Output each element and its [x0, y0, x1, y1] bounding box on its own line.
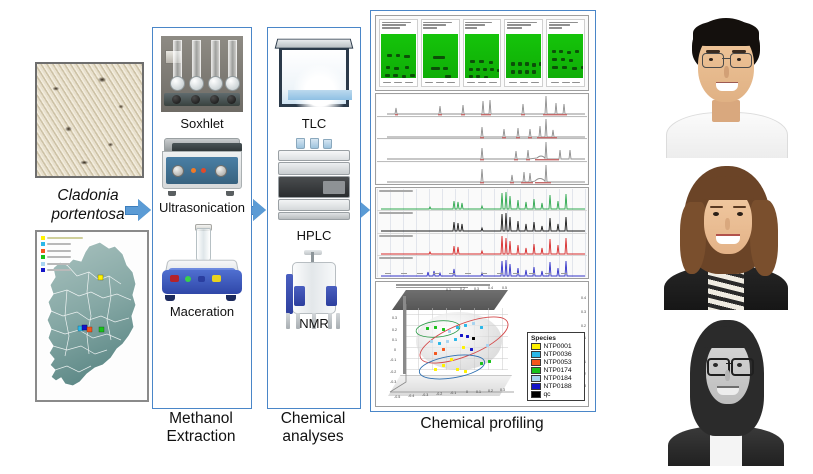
tlc-solvent-layer — [288, 90, 352, 100]
hair-right — [750, 200, 778, 276]
nmr-leg — [286, 313, 290, 329]
legend-swatch — [41, 236, 45, 240]
eye — [713, 212, 719, 216]
legend-text-placeholder — [47, 263, 70, 265]
hair-fringe — [700, 176, 756, 200]
solvent-bottle — [323, 139, 332, 149]
soxhlet-flask — [208, 76, 223, 91]
stirrer-foot — [226, 295, 236, 301]
plate-surface — [506, 34, 541, 78]
nmr-y-axis-labels — [381, 97, 387, 113]
stirrer-power-button — [170, 275, 179, 282]
tlc-plate — [504, 19, 543, 87]
soxhlet-flask — [170, 76, 185, 91]
tlc-plate — [546, 19, 585, 87]
eye — [737, 212, 743, 216]
map-legend-item — [41, 261, 93, 267]
bath-indicator — [201, 168, 206, 173]
legend-swatch-ntp0053 — [531, 359, 541, 366]
tlc-plate-inside — [294, 65, 346, 109]
hplc-degasser — [278, 150, 350, 161]
data-point — [450, 358, 453, 361]
plate-header-text — [422, 20, 459, 33]
plate-header-text — [380, 20, 417, 33]
maceration-label: Maceration — [170, 304, 234, 319]
magnetic-stirrer-icon — [160, 228, 244, 302]
nmr-trace — [377, 163, 587, 184]
legend-swatch — [41, 268, 45, 272]
plate-lane-labels — [380, 79, 417, 86]
tlc-plate — [379, 19, 418, 87]
chemical-analyses-panel: TLC HPLC NMR — [267, 27, 361, 409]
legend-swatch — [41, 249, 45, 253]
arrow-specimen-to-extraction — [125, 199, 151, 221]
hair-front — [693, 20, 759, 46]
pca-3d-scatter-plot: 0.4 0.3 0.2 0.1 0 -0.1 -0.2 -0.3 0.3 0.2… — [375, 281, 589, 407]
plate-surface — [548, 34, 583, 78]
legend-text-placeholder — [47, 269, 71, 271]
ultrasonication-label: Ultrasonication — [159, 200, 245, 215]
chemical-analyses-caption: Chemical analyses — [266, 410, 360, 446]
data-point — [470, 348, 473, 351]
hair-fringe — [702, 326, 754, 348]
legend-swatch-ntp0188 — [531, 383, 541, 390]
legend-swatch-ntp0174 — [531, 367, 541, 374]
data-point — [434, 368, 437, 371]
eyebrow — [733, 206, 746, 208]
eyebrow — [710, 206, 723, 208]
bath-dial — [172, 165, 184, 177]
data-point — [486, 344, 489, 347]
neck — [712, 100, 740, 122]
caption-line-2: Extraction — [150, 428, 252, 446]
nmr-trace — [377, 140, 587, 162]
hplc-autosampler — [278, 176, 350, 198]
hplc-pump — [278, 162, 350, 175]
eyeglasses-bridge — [722, 58, 730, 59]
legend-label: qc — [544, 391, 551, 398]
caption-line-1: Chemical — [266, 410, 360, 428]
legend-swatch-qc — [531, 391, 541, 398]
data-point — [456, 326, 459, 329]
data-point — [434, 326, 437, 329]
chemical-profiling-panel: 0.4 0.3 0.2 0.1 0 -0.1 -0.2 -0.3 0.3 0.2… — [370, 10, 596, 412]
legend-title: Species — [531, 335, 581, 342]
tlc-plate — [421, 19, 460, 87]
ireland-sampling-site-map — [35, 230, 149, 402]
plate-lane-labels — [464, 79, 501, 86]
pca-legend: Species NTP0001 NTP0036 NTP0053 NTP0174 … — [527, 332, 585, 402]
bath-foot — [168, 191, 176, 196]
plate-header-text — [505, 20, 542, 33]
caption-line-1: Methanol — [150, 410, 252, 428]
nmr-leg — [336, 313, 340, 329]
soxhlet-knob — [227, 95, 236, 104]
legend-label: NTP0188 — [544, 383, 572, 390]
chromatogram-trace — [377, 234, 587, 256]
solvent-bottle — [310, 138, 319, 149]
nmr-side-column — [286, 274, 293, 314]
hair-left — [680, 202, 706, 274]
tlc-chamber-icon — [276, 38, 352, 110]
legend-swatch — [41, 255, 45, 259]
stirrer-button — [198, 276, 205, 282]
tlc-plates-image — [375, 15, 589, 91]
legend-item: qc — [531, 390, 581, 398]
eye — [737, 58, 741, 61]
chromatogram-trace — [377, 256, 587, 277]
data-point — [426, 327, 429, 330]
bath-foot — [226, 191, 234, 196]
data-point — [472, 337, 475, 340]
map-legend-item — [41, 241, 93, 247]
arrow-head — [138, 199, 151, 221]
map-legend-item — [41, 248, 93, 254]
tlc-plate — [463, 19, 502, 87]
methanol-extraction-caption: Methanol Extraction — [150, 410, 252, 446]
legend-swatch-ntp0184 — [531, 375, 541, 382]
stirrer-foot — [165, 295, 175, 301]
map-legend-item — [41, 267, 93, 273]
nmr-spectra-image — [375, 93, 589, 185]
mouth — [717, 386, 739, 395]
nmr-coil — [294, 286, 305, 306]
sample-vial — [196, 228, 211, 262]
legend-item: NTP0053 — [531, 358, 581, 366]
data-point — [438, 342, 441, 345]
legend-label: NTP0001 — [544, 343, 572, 350]
nmr-y-axis-labels — [381, 165, 387, 181]
chemical-profiling-caption: Chemical profiling — [370, 415, 594, 433]
hplc-column-oven — [278, 199, 350, 211]
plate-lane-labels — [422, 79, 459, 86]
legend-label: NTP0053 — [544, 359, 572, 366]
data-point — [480, 326, 483, 329]
nose — [725, 218, 730, 230]
legend-text-placeholder — [47, 250, 71, 252]
data-point — [462, 346, 465, 349]
hplc-detector — [278, 212, 350, 220]
data-point — [456, 368, 459, 371]
bath-timer-dial — [215, 165, 227, 177]
soxhlet-flask — [225, 76, 240, 91]
hplc-display — [323, 181, 345, 194]
soxhlet-flask — [189, 76, 204, 91]
methanol-extraction-panel: Soxhlet Ultrasonication Macera — [152, 27, 252, 409]
legend-text-placeholder — [47, 237, 83, 239]
soxhlet-apparatus-icon — [161, 36, 243, 112]
plate-surface — [423, 34, 458, 78]
plate-lane-labels — [547, 79, 584, 86]
data-point — [464, 370, 467, 373]
legend-label: NTP0184 — [544, 375, 572, 382]
legend-text-placeholder — [47, 243, 71, 245]
graphical-abstract: Cladonia portentosa — [0, 0, 813, 474]
mouth — [716, 82, 738, 91]
nmr-trace — [377, 118, 587, 140]
legend-item: NTP0174 — [531, 366, 581, 374]
data-point — [464, 324, 467, 327]
tlc-lid — [275, 39, 354, 49]
portrait-researcher-3 — [662, 314, 790, 466]
arrow-head — [253, 199, 266, 221]
stirrer-button — [212, 275, 221, 282]
plate-surface — [381, 34, 416, 78]
eyeglasses-lens — [702, 53, 724, 68]
data-point — [480, 362, 483, 365]
legend-label: NTP0174 — [544, 367, 572, 374]
eyeglasses-lens — [730, 53, 752, 68]
nmr-trace — [377, 95, 587, 117]
stirrer-led — [185, 276, 191, 282]
legend-text-placeholder — [47, 256, 71, 258]
map-legend — [41, 235, 93, 275]
bath-indicator — [191, 168, 196, 173]
data-point — [472, 322, 475, 325]
data-point — [430, 340, 433, 343]
nose — [724, 66, 729, 78]
eyeglasses-lens — [731, 358, 754, 376]
data-point — [442, 364, 445, 367]
ultrasonic-bath-icon — [160, 136, 244, 196]
data-point — [442, 348, 445, 351]
legend-item: NTP0036 — [531, 350, 581, 358]
plate-header-text — [464, 20, 501, 33]
eye — [709, 58, 713, 61]
nose — [725, 370, 730, 381]
soxhlet-knob — [191, 95, 200, 104]
map-legend-item — [41, 235, 93, 241]
legend-item: NTP0188 — [531, 382, 581, 390]
data-point — [466, 335, 469, 338]
plate-lane-labels — [505, 79, 542, 86]
lichen-thallus-photo — [35, 62, 144, 178]
legend-swatch-ntp0001 — [531, 343, 541, 350]
legend-swatch-ntp0036 — [531, 351, 541, 358]
nmr-y-axis-labels — [381, 142, 387, 158]
map-legend-item — [41, 254, 93, 260]
eyeglasses-bridge — [726, 363, 732, 364]
legend-swatch — [41, 262, 45, 266]
data-point — [448, 330, 451, 333]
chromatogram-trace — [377, 211, 587, 233]
portrait-researcher-2 — [662, 162, 790, 310]
data-point — [460, 334, 463, 337]
caption-line-2: analyses — [266, 428, 360, 446]
legend-item: NTP0001 — [531, 342, 581, 350]
hplc-label: HPLC — [297, 228, 332, 243]
legend-item: NTP0184 — [531, 374, 581, 382]
mouth — [716, 234, 740, 244]
data-point — [454, 338, 457, 341]
soxhlet-knob — [172, 95, 181, 104]
eye — [737, 363, 742, 367]
soxhlet-knob — [210, 95, 219, 104]
solvent-bottle — [296, 138, 305, 149]
stirrer-body — [162, 270, 242, 294]
plate-header-text — [547, 20, 584, 33]
plate-surface — [465, 34, 500, 78]
nmr-y-axis-labels — [381, 120, 387, 136]
hplc-chromatograms-image — [375, 187, 589, 279]
tlc-tank — [279, 47, 349, 107]
tlc-label: TLC — [302, 116, 327, 131]
data-point — [446, 340, 449, 343]
soxhlet-label: Soxhlet — [180, 116, 223, 131]
nmr-label: NMR — [299, 316, 329, 331]
eye — [713, 363, 718, 367]
legend-swatch — [41, 242, 45, 246]
data-point — [488, 360, 491, 363]
portrait-researcher-1 — [662, 8, 790, 158]
hplc-system-icon — [278, 138, 350, 220]
data-point — [434, 352, 437, 355]
data-point — [442, 328, 445, 331]
nmr-coil — [326, 286, 337, 306]
chromatogram-trace — [377, 189, 587, 211]
legend-label: NTP0036 — [544, 351, 572, 358]
